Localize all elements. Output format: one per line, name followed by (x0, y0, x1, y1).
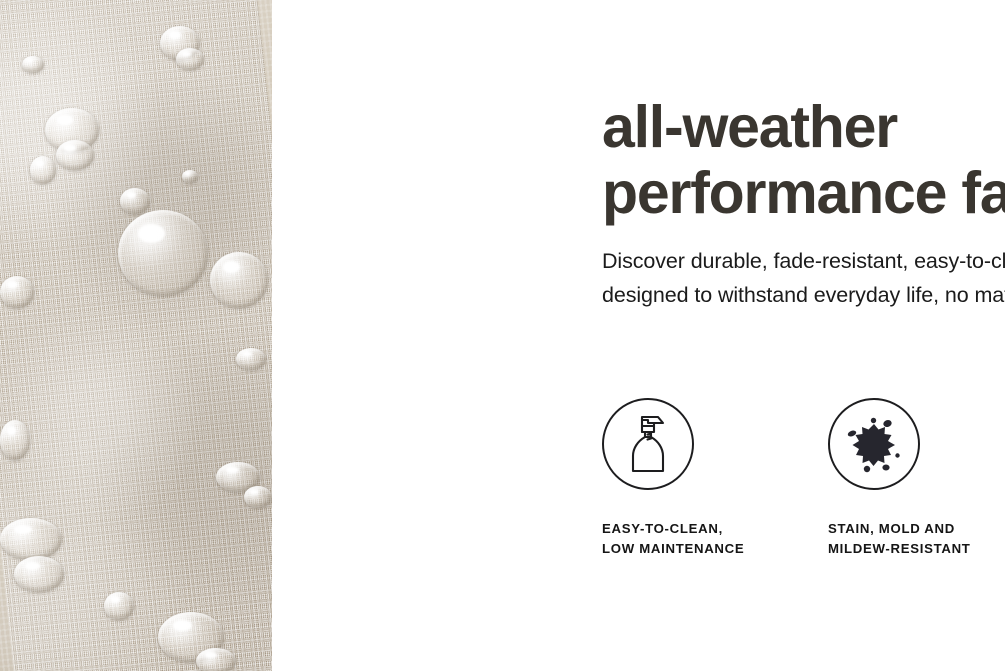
fabric-photo-panel (0, 0, 272, 671)
water-droplet (0, 420, 30, 460)
feature-item: EASY-TO-CLEAN, LOW MAINTENANCE (602, 398, 828, 559)
water-droplet (244, 486, 272, 508)
stain-splat-icon (828, 398, 920, 490)
feature-list: EASY-TO-CLEAN, LOW MAINTENANCE STAIN, MO… (602, 398, 1005, 559)
water-droplet (104, 592, 134, 620)
water-droplet (30, 156, 56, 184)
spray-bottle-icon (602, 398, 694, 490)
water-droplet (56, 140, 94, 170)
water-droplet (182, 170, 198, 183)
water-droplet (176, 48, 204, 70)
water-droplet (14, 556, 64, 592)
water-droplet (210, 252, 268, 308)
feature-label: EASY-TO-CLEAN, LOW MAINTENANCE (602, 519, 828, 559)
water-droplet (0, 276, 34, 308)
water-droplet (236, 348, 266, 370)
water-droplet (0, 518, 62, 560)
content-panel: all-weather performance fabric Discover … (272, 0, 1005, 671)
water-droplet (196, 648, 236, 671)
water-droplet (22, 56, 44, 73)
feature-label: STAIN, MOLD AND MILDEW-RESISTANT (828, 519, 1005, 559)
subcopy-line-3: no matter the weather. (945, 283, 1005, 307)
all-weather-fabric-banner: all-weather performance fabric Discover … (0, 0, 1005, 671)
subcopy: Discover durable, fade-resistant, easy-t… (602, 244, 1005, 312)
water-droplet (120, 188, 150, 214)
water-droplet (118, 210, 208, 296)
page-title: all-weather performance fabric (602, 94, 1005, 226)
feature-item: STAIN, MOLD AND MILDEW-RESISTANT (828, 398, 1005, 559)
subcopy-line-1: Discover durable, fade-resistant, easy-t… (602, 249, 1005, 273)
